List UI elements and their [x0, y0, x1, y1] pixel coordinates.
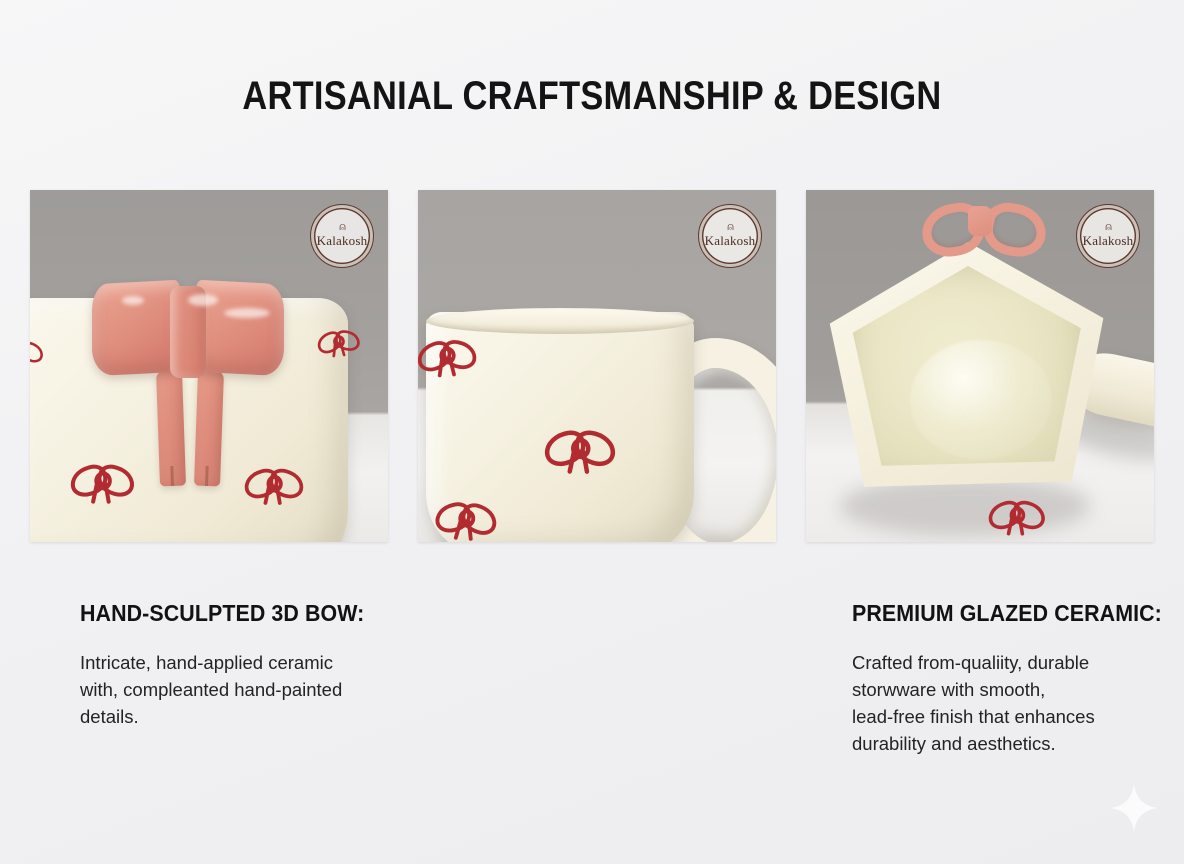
feature-column-1: ⍝ Kalakosh HAND-SCULPTED 3D BOW: Intrica…: [30, 190, 388, 542]
mug-rim: [426, 308, 694, 334]
glaze-highlight: [910, 340, 1052, 460]
glaze-highlight: [224, 308, 270, 318]
bow-tail-left: [156, 370, 186, 487]
feature-body-line: lead-free finish that enhances: [852, 703, 1184, 730]
glaze-highlight: [122, 296, 144, 305]
feature-body-line: storwware with smooth,: [852, 676, 1184, 703]
feature-caption-2: PREMIUM GLAZED CERAMIC: Crafted from-qua…: [852, 600, 1184, 757]
watermark-label: Kalakosh: [317, 233, 368, 249]
mug-body: [426, 312, 694, 542]
lotus-icon: ⍝: [339, 223, 345, 232]
sculpted-rim-bow: [922, 204, 1038, 244]
lotus-icon: ⍝: [1105, 223, 1111, 232]
watermark-label: Kalakosh: [1083, 233, 1134, 249]
feature-heading: PREMIUM GLAZED CERAMIC:: [852, 600, 1184, 627]
feature-body-line: Intricate, hand-applied ceramic: [80, 649, 440, 676]
glaze-highlight: [188, 294, 218, 306]
feature-body: Intricate, hand-applied ceramic with, co…: [80, 649, 440, 730]
brand-watermark: ⍝ Kalakosh: [310, 204, 374, 268]
feature-body-line: Crafted from-qualiity, durable: [852, 649, 1184, 676]
bow-tail-right: [194, 370, 224, 487]
watermark-label: Kalakosh: [705, 233, 756, 249]
slide-canvas: ARTISANIAL CRAFTSMANSHIP & DESIGN: [0, 0, 1184, 864]
bow-loop-left: [92, 280, 180, 377]
feature-body: Crafted from-qualiity, durable storwware…: [852, 649, 1184, 757]
feature-body-line: details.: [80, 703, 440, 730]
feature-caption-1: HAND-SCULPTED 3D BOW: Intricate, hand-ap…: [80, 600, 440, 730]
feature-column-3: ⍝ Kalakosh UNIQUE PENTAGINAL RIM: Distin…: [806, 190, 1164, 542]
bow-knot: [968, 206, 992, 236]
feature-heading: HAND-SCULPTED 3D BOW:: [80, 600, 415, 627]
sculpted-3d-bow: [92, 282, 312, 482]
feature-column-2: ⍝ Kalakosh PREMIUM GLAZED CERAMIC: Craft…: [418, 190, 776, 542]
lotus-icon: ⍝: [727, 223, 733, 232]
page-title: ARTISANIAL CRAFTSMANSHIP & DESIGN: [83, 74, 1101, 119]
feature-body-line: with, compleanted hand-painted: [80, 676, 440, 703]
feature-body-line: durability and aesthetics.: [852, 730, 1184, 757]
brand-watermark: ⍝ Kalakosh: [698, 204, 762, 268]
sparkle-icon: [1108, 782, 1160, 834]
brand-watermark: ⍝ Kalakosh: [1076, 204, 1140, 268]
product-photo-glazed-ceramic: ⍝ Kalakosh: [418, 190, 776, 542]
product-photo-hand-sculpted-bow: ⍝ Kalakosh: [30, 190, 388, 542]
product-photo-pentagonal-rim: ⍝ Kalakosh: [806, 190, 1154, 542]
